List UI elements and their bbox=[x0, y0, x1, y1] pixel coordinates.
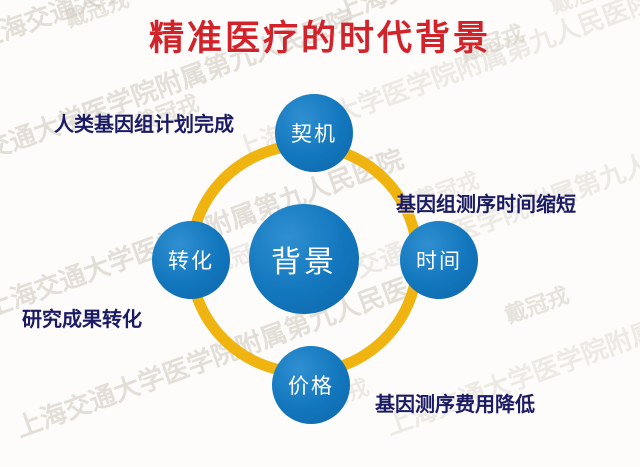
diagram-node-top[interactable]: 契机 bbox=[275, 94, 353, 172]
diagram-node-center[interactable]: 背景 bbox=[249, 204, 359, 314]
diagram-node-top-label: 契机 bbox=[291, 118, 337, 148]
diagram-node-bottom-label: 价格 bbox=[288, 370, 334, 400]
diagram-node-left[interactable]: 转化 bbox=[152, 221, 230, 299]
slide-title: 精准医疗的时代背景 bbox=[0, 10, 640, 61]
diagram-node-left-label: 转化 bbox=[168, 245, 214, 275]
diagram-node-bottom[interactable]: 价格 bbox=[272, 346, 350, 424]
callout-right: 基因组测序时间缩短 bbox=[396, 188, 576, 217]
radial-diagram: 背景 契机 时间 价格 转化 bbox=[0, 0, 640, 467]
slide-canvas: 上海交通大学医学院附属第九人民医院 戴冠戎 上海交通大学医学院附属第九人民医院 … bbox=[0, 0, 640, 467]
callout-bottom-left: 研究成果转化 bbox=[22, 303, 142, 332]
diagram-node-center-label: 背景 bbox=[271, 237, 337, 281]
diagram-node-right[interactable]: 时间 bbox=[400, 221, 478, 299]
callout-top-left: 人类基因组计划完成 bbox=[54, 108, 234, 137]
diagram-node-right-label: 时间 bbox=[416, 245, 462, 275]
callout-bottom-right: 基因测序费用降低 bbox=[375, 388, 535, 417]
